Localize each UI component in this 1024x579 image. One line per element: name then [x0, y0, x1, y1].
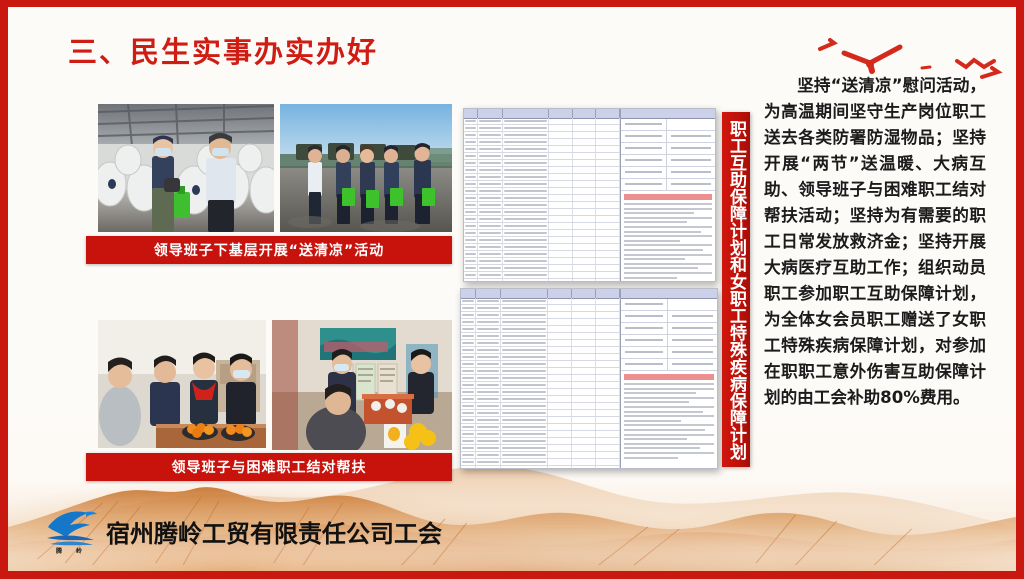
sheet1-rows: [464, 118, 620, 281]
vertical-section-label: 职工互助保障计划和女职工特殊疾病保障计划: [722, 112, 750, 467]
table-row: [461, 452, 620, 459]
table-row: [464, 167, 620, 174]
info-row: [621, 299, 717, 311]
info-row: [621, 167, 715, 179]
table-row: [461, 424, 620, 431]
info-row: [621, 347, 717, 359]
info-row: [621, 335, 717, 347]
table-row: [461, 410, 620, 417]
table-row: [464, 230, 620, 237]
notes-title: [624, 374, 714, 380]
page-title: 三、民生实事办实办好: [68, 29, 378, 71]
table-row: [461, 361, 620, 368]
table-row: [461, 396, 620, 403]
table-row: [461, 354, 620, 361]
caption-songqingliang: 领导班子下基层开展“送清凉”活动: [86, 236, 452, 264]
table-row: [461, 340, 620, 347]
slide-canvas: 三、民生实事办实办好: [8, 7, 1016, 571]
info-row: [621, 119, 715, 131]
table-row: [461, 389, 620, 396]
table-row: [461, 326, 620, 333]
table-row: [464, 209, 620, 216]
table-row: [464, 132, 620, 139]
sheet2-table: [461, 289, 621, 468]
photo-outdoor-delivery: [280, 104, 452, 232]
table-row: [464, 279, 620, 281]
table-row: [461, 305, 620, 312]
photo-home-visit-table: [272, 320, 452, 450]
table-row: [464, 237, 620, 244]
table-row: [464, 125, 620, 132]
table-row: [461, 368, 620, 375]
table-row: [464, 216, 620, 223]
notes-title: [624, 194, 712, 200]
table-row: [461, 466, 620, 468]
caption-jieduibangfu: 领导班子与困难职工结对帮扶: [86, 453, 452, 481]
tengling-bird-wave-logo: 腾 岭: [44, 507, 98, 553]
table-row: [464, 181, 620, 188]
table-row: [461, 312, 620, 319]
spreadsheet-screenshot-1: [463, 108, 716, 282]
table-row: [464, 153, 620, 160]
table-row: [464, 272, 620, 279]
logo-text: 腾 岭: [46, 546, 98, 555]
table-row: [461, 445, 620, 452]
table-row: [461, 298, 620, 305]
table-row: [464, 202, 620, 209]
table-row: [464, 265, 620, 272]
table-row: [461, 438, 620, 445]
table-row: [464, 188, 620, 195]
info-row: [621, 131, 715, 143]
sheet1-notes: [621, 191, 715, 279]
table-row: [464, 146, 620, 153]
table-row: [464, 174, 620, 181]
sheet1-info-panel: [621, 109, 715, 281]
photo-factory-visit: [98, 104, 274, 232]
table-row: [461, 333, 620, 340]
info-row: [621, 179, 715, 191]
table-row: [461, 417, 620, 424]
photo-home-visit-indoor: [98, 320, 266, 448]
sheet2-notes: [621, 371, 717, 459]
info-row: [621, 155, 715, 167]
table-row: [464, 118, 620, 125]
table-row: [461, 347, 620, 354]
table-row: [461, 382, 620, 389]
table-row: [464, 195, 620, 202]
table-row: [464, 160, 620, 167]
table-row: [461, 319, 620, 326]
table-row: [461, 459, 620, 466]
body-paragraph: 坚持“送清凉”慰问活动，为高温期间坚守生产岗位职工送去各类防署防湿物品；坚持开展…: [764, 73, 986, 411]
info-row: [621, 143, 715, 155]
footer: 腾 岭 宿州腾岭工贸有限责任公司工会: [44, 507, 442, 553]
slide-root: 三、民生实事办实办好: [0, 0, 1024, 579]
table-row: [464, 244, 620, 251]
info-row: [621, 323, 717, 335]
table-row: [461, 375, 620, 382]
table-row: [461, 403, 620, 410]
table-row: [464, 251, 620, 258]
table-row: [461, 431, 620, 438]
sheet1-table: [464, 109, 621, 281]
table-row: [464, 258, 620, 265]
sheet2-info-panel: [621, 289, 717, 468]
sheet2-panel-header: [621, 289, 717, 299]
table-row: [464, 139, 620, 146]
spreadsheet-screenshot-2: [460, 288, 718, 469]
sheet1-panel-header: [621, 109, 715, 119]
sheet2-rows: [461, 298, 620, 468]
info-row: [621, 311, 717, 323]
organization-name: 宿州腾岭工贸有限责任公司工会: [106, 514, 442, 553]
table-row: [464, 223, 620, 230]
info-row: [621, 359, 717, 371]
